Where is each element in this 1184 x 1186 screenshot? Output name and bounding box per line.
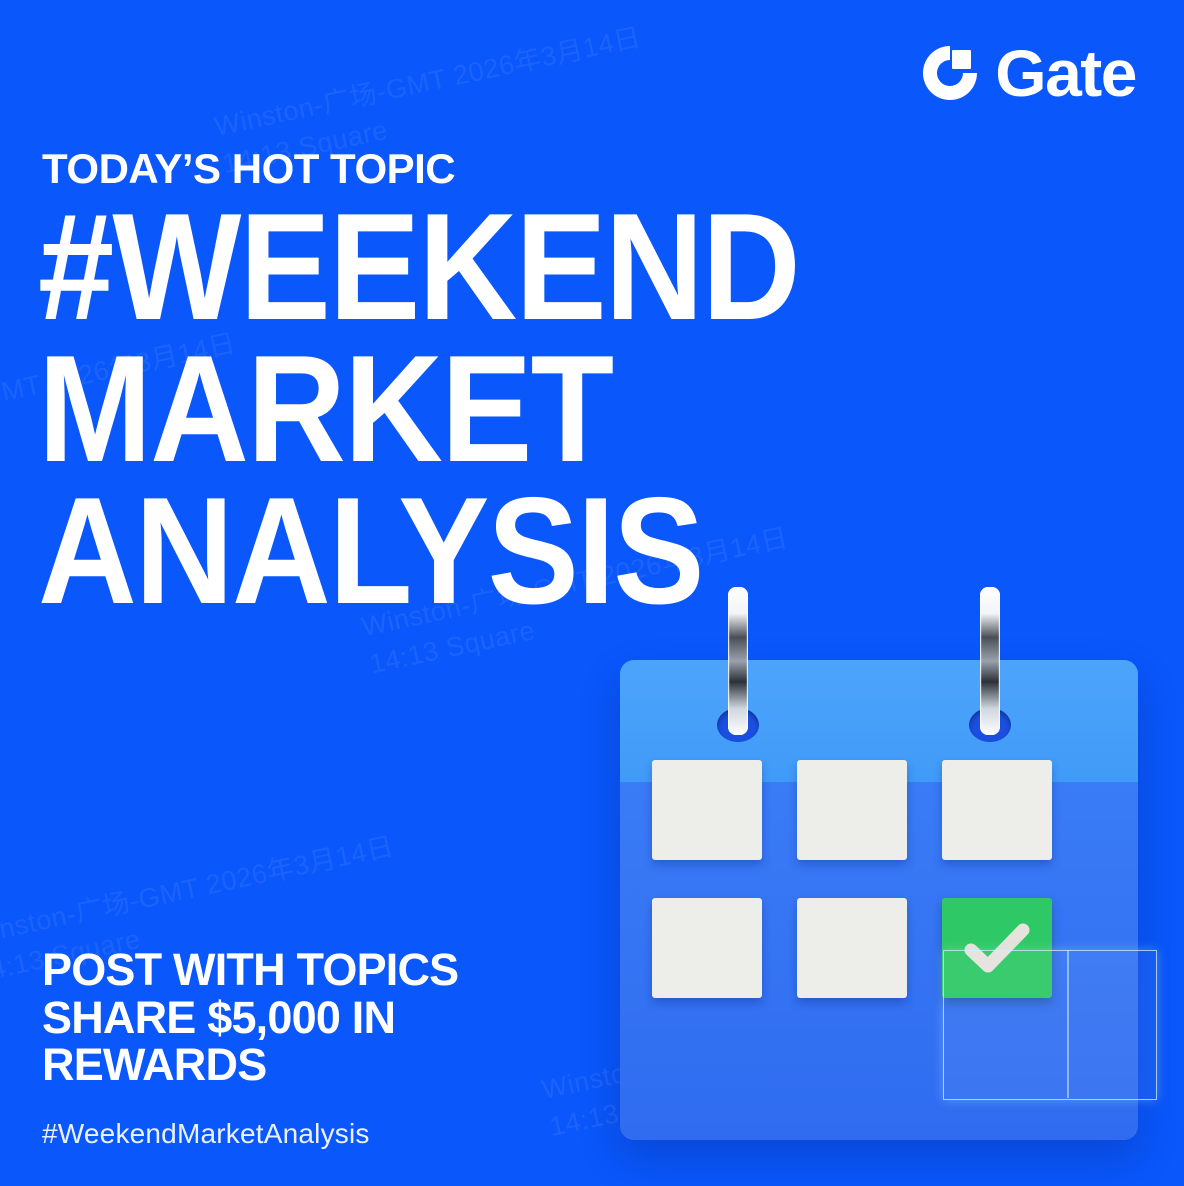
- promo-copy: POST WITH TOPICS SHARE $5,000 IN REWARDS: [42, 946, 458, 1089]
- watermark-text: Winston-广场-GMT 2026年3月14日: [0, 827, 398, 956]
- check-icon: [964, 922, 1030, 974]
- promo-line-2: SHARE $5,000 IN: [42, 994, 458, 1042]
- calendar-day-cell[interactable]: [797, 898, 907, 998]
- binder-ring-icon: [980, 587, 1000, 735]
- headline-line-3: ANALYSIS: [38, 480, 799, 622]
- brand-logo: Gate: [919, 40, 1136, 106]
- watermark-text: Winston-广场-GMT 2026年3月14日: [211, 18, 645, 147]
- calendar-day-cell-completed[interactable]: [942, 898, 1052, 998]
- calendar-day-cell[interactable]: [797, 760, 907, 860]
- promo-banner: Winston-广场-GMT 2026年3月14日 14:13 Square W…: [0, 0, 1184, 1186]
- headline-line-1: #WEEKEND: [38, 196, 799, 338]
- calendar-day-cell[interactable]: [942, 760, 1052, 860]
- brand-wordmark: Gate: [995, 40, 1136, 106]
- calendar-day-cell[interactable]: [652, 898, 762, 998]
- campaign-hashtag[interactable]: #WeekendMarketAnalysis: [42, 1118, 370, 1150]
- page-title: #WEEKEND MARKET ANALYSIS: [38, 196, 883, 622]
- promo-line-1: POST WITH TOPICS: [42, 946, 458, 994]
- promo-line-3: REWARDS: [42, 1041, 458, 1089]
- calendar-day-grid: [652, 760, 1072, 998]
- gate-logo-mark-icon: [919, 42, 981, 104]
- headline-line-2: MARKET: [38, 338, 799, 480]
- calendar-illustration: [600, 575, 1184, 1155]
- calendar-day-cell[interactable]: [652, 760, 762, 860]
